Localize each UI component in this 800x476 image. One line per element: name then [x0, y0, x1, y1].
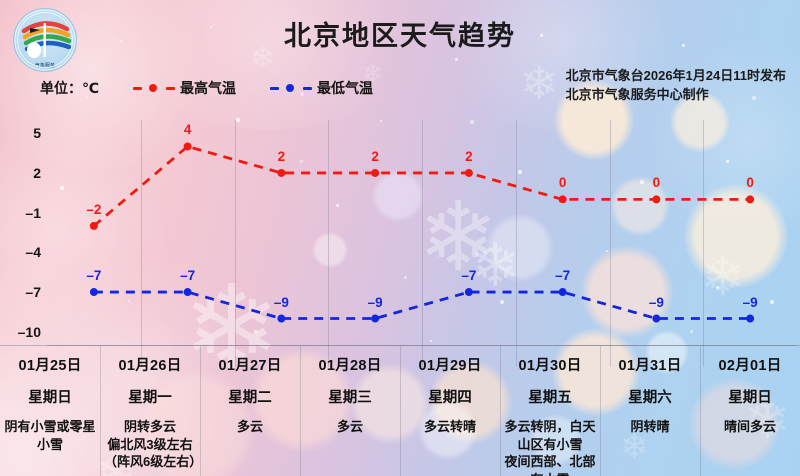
low-temp-point: [371, 315, 379, 323]
high-temp-label: 2: [371, 149, 379, 164]
publisher-line-2: 北京市气象服务中心制作: [566, 85, 786, 104]
high-temp-label: 0: [559, 175, 567, 190]
forecast-description: 晴间多云: [700, 418, 800, 436]
legend-item-low: 最低气温: [270, 78, 373, 98]
low-temp-label: –7: [86, 268, 101, 283]
low-temp-label: –7: [555, 268, 570, 283]
grid-line-vertical: [516, 120, 517, 367]
forecast-column: 01月27日星期二多云: [200, 345, 300, 476]
high-temp-label: 0: [746, 175, 754, 190]
forecast-column: 01月30日星期五多云转阴，白天 山区有小雪 夜间西部、北部 有小雪: [500, 345, 600, 476]
high-temp-label: –2: [86, 202, 101, 217]
column-divider: [700, 345, 701, 476]
grid-line-vertical: [141, 120, 142, 367]
column-divider: [600, 345, 601, 476]
high-temp-label: 0: [653, 175, 661, 190]
low-temp-point: [90, 288, 98, 296]
page-title: 北京地区天气趋势: [0, 14, 800, 53]
low-temp-label: –9: [649, 295, 664, 310]
high-temp-label: 4: [184, 122, 192, 137]
low-temp-point: [465, 288, 473, 296]
low-temp-label: –9: [274, 295, 289, 310]
low-temp-point: [184, 288, 192, 296]
forecast-weekday: 星期日: [0, 386, 100, 407]
forecast-column: 02月01日星期日晴间多云: [700, 345, 800, 476]
legend-swatch-low: [270, 82, 312, 94]
low-temp-point: [277, 315, 285, 323]
grid-line-vertical: [422, 120, 423, 367]
forecast-weekday: 星期日: [700, 386, 800, 407]
grid-line-vertical: [703, 120, 704, 367]
forecast-date: 01月31日: [600, 354, 700, 375]
forecast-weekday: 星期五: [500, 386, 600, 407]
low-temp-point: [746, 315, 754, 323]
forecast-date: 01月25日: [0, 354, 100, 375]
forecast-weekday: 星期六: [600, 386, 700, 407]
high-temp-point: [184, 142, 192, 150]
forecast-weekday: 星期一: [100, 386, 200, 407]
y-axis-tick: 5: [33, 125, 41, 141]
high-temp-label: 2: [465, 149, 473, 164]
forecast-weekday: 星期二: [200, 386, 300, 407]
legend-label-high: 最高气温: [180, 78, 236, 98]
high-temp-label: 2: [278, 149, 286, 164]
forecast-description: 多云: [200, 418, 300, 436]
forecast-description: 阴转晴: [600, 418, 700, 436]
forecast-column: 01月31日星期六阴转晴: [600, 345, 700, 476]
low-temp-label: –9: [368, 295, 383, 310]
unit-label: 单位：℃: [40, 78, 99, 98]
forecast-weekday: 星期三: [300, 386, 400, 407]
high-temp-point: [652, 195, 660, 203]
legend-label-low: 最低气温: [317, 78, 373, 98]
high-temp-point: [371, 169, 379, 177]
high-temp-point: [465, 169, 473, 177]
column-divider: [100, 345, 101, 476]
low-temp-label: –7: [180, 268, 195, 283]
forecast-column: 01月26日星期一阴转多云 偏北风3级左右 （阵风6级左右）: [100, 345, 200, 476]
forecast-column: 01月29日星期四多云转晴: [400, 345, 500, 476]
forecast-date: 01月29日: [400, 354, 500, 375]
y-axis-tick: –4: [25, 244, 41, 260]
y-axis-tick: –1: [25, 205, 41, 221]
forecast-description: 阴有小雪或零星 小雪: [0, 418, 100, 453]
forecast-date: 01月26日: [100, 354, 200, 375]
legend-swatch-high: [133, 82, 175, 94]
forecast-column: 01月25日星期日阴有小雪或零星 小雪: [0, 345, 100, 476]
chart-legend: 单位：℃ 最高气温 最低气温: [40, 78, 373, 98]
y-axis-tick: 2: [33, 165, 41, 181]
forecast-column: 01月28日星期三多云: [300, 345, 400, 476]
weather-trend-chart: ❄❄❄❄❄❄❄❄❄❄ 气象服务 北京地区天气趋势 北京市气象台2026年1月24…: [0, 0, 800, 476]
high-temp-point: [746, 195, 754, 203]
low-temp-point: [652, 315, 660, 323]
column-divider: [500, 345, 501, 476]
publisher-line-1: 北京市气象台2026年1月24日11时发布: [566, 66, 786, 85]
legend-item-high: 最高气温: [133, 78, 236, 98]
low-temp-label: –7: [461, 268, 476, 283]
high-temp-point: [559, 195, 567, 203]
low-temp-point: [559, 288, 567, 296]
forecast-weekday: 星期四: [400, 386, 500, 407]
y-axis: 52–1–4–7–10: [0, 120, 45, 345]
publisher-info: 北京市气象台2026年1月24日11时发布 北京市气象服务中心制作: [566, 66, 786, 104]
low-temp-label: –9: [743, 295, 758, 310]
high-temp-point: [90, 222, 98, 230]
forecast-date: 01月27日: [200, 354, 300, 375]
y-axis-tick: –10: [18, 324, 41, 340]
column-divider: [200, 345, 201, 476]
plot-area: –24222000–7–7–9–9–7–7–9–9: [47, 120, 797, 345]
column-divider: [300, 345, 301, 476]
forecast-table: 01月25日星期日阴有小雪或零星 小雪01月26日星期一阴转多云 偏北风3级左右…: [0, 345, 800, 476]
forecast-description: 多云转阴，白天 山区有小雪 夜间西部、北部 有小雪: [500, 418, 600, 476]
forecast-date: 01月30日: [500, 354, 600, 375]
forecast-date: 02月01日: [700, 354, 800, 375]
grid-line-vertical: [328, 120, 329, 367]
grid-line-vertical: [610, 120, 611, 367]
forecast-description: 阴转多云 偏北风3级左右 （阵风6级左右）: [100, 418, 200, 471]
forecast-description: 多云: [300, 418, 400, 436]
forecast-date: 01月28日: [300, 354, 400, 375]
high-temp-point: [277, 169, 285, 177]
y-axis-tick: –7: [25, 284, 41, 300]
column-divider: [400, 345, 401, 476]
forecast-description: 多云转晴: [400, 418, 500, 436]
grid-line-vertical: [235, 120, 236, 367]
